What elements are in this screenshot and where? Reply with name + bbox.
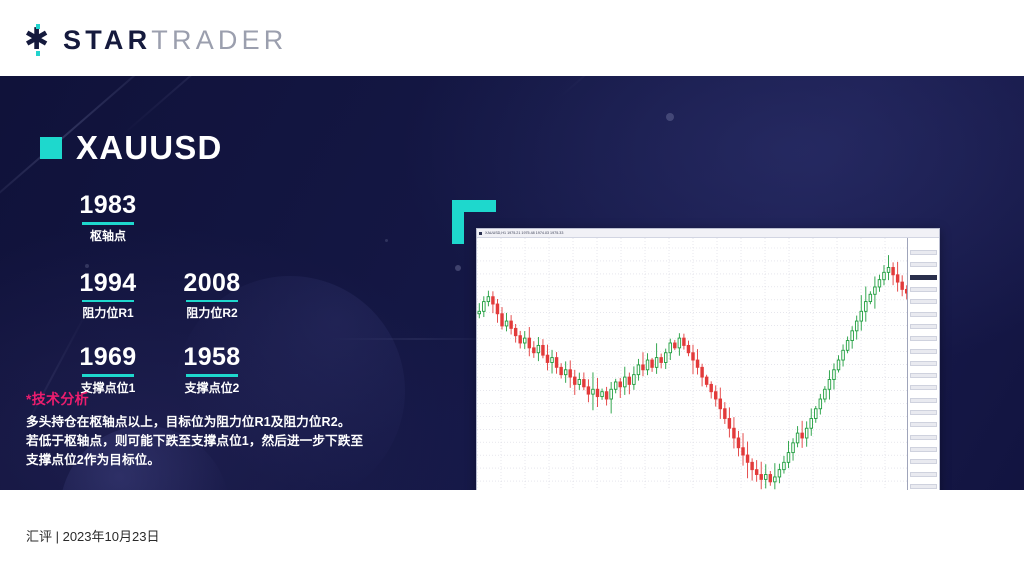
price-tick (910, 447, 937, 452)
level-value: 1983 (56, 191, 160, 219)
page-footer: 汇评 | 2023年10月23日 (0, 490, 1024, 576)
chart-title: XAUUSD,H1 1975.21 1975.48 1974.03 1975.3… (485, 230, 563, 236)
price-tick (910, 459, 937, 464)
levels-row-pivot: 1983 枢轴点 (56, 191, 386, 244)
chart-titlebar: XAUUSD,H1 1975.21 1975.48 1974.03 1975.3… (477, 229, 940, 238)
brand-name-bold: STAR (63, 25, 151, 55)
price-tick (910, 484, 937, 489)
chart-window-icon (479, 232, 482, 235)
decor-dot (455, 265, 461, 271)
analysis-heading: *技术分析 (26, 390, 406, 408)
levels-row-support: 1969 支撑点位1 1958 支撑点位2 (56, 343, 386, 396)
level-underline (82, 222, 134, 225)
level-support-1: 1969 支撑点位1 (56, 343, 160, 396)
level-value: 2008 (160, 269, 264, 297)
symbol-label: XAUUSD (76, 131, 223, 165)
price-tick (910, 324, 937, 329)
price-tick (910, 435, 937, 440)
mt4-chart-window[interactable]: XAUUSD,H1 1975.21 1975.48 1974.03 1975.3… (476, 228, 940, 490)
square-bullet-icon (40, 137, 62, 159)
price-tick (910, 299, 937, 304)
price-tick (910, 287, 937, 292)
level-underline (186, 374, 238, 377)
price-tick (910, 373, 937, 378)
price-tick (910, 398, 937, 403)
decor-dot (666, 113, 674, 121)
pivot-levels: 1983 枢轴点 1994 阻力位R1 2008 阻力位R2 (56, 191, 386, 396)
price-tick (910, 361, 937, 366)
decor-streak (560, 76, 757, 97)
level-label: 阻力位R2 (160, 306, 264, 321)
candlestick-canvas (477, 238, 909, 490)
price-tick (910, 385, 937, 390)
analysis-block: *技术分析 多头持仓在枢轴点以上，目标位为阻力位R1及阻力位R2。 若低于枢轴点… (26, 390, 406, 470)
chart-plot-area[interactable] (477, 238, 909, 490)
analysis-line-3: 支撑点位2作为目标位。 (26, 451, 406, 470)
level-label: 阻力位R1 (56, 306, 160, 321)
page-header: ✱ STARTRADER (0, 0, 1024, 76)
levels-row-resistance: 1994 阻力位R1 2008 阻力位R2 (56, 269, 386, 322)
level-underline (186, 300, 238, 303)
level-support-2: 1958 支撑点位2 (160, 343, 264, 396)
level-value: 1994 (56, 269, 160, 297)
analysis-body: 多头持仓在枢轴点以上，目标位为阻力位R1及阻力位R2。 若低于枢轴点，则可能下跌… (26, 413, 406, 470)
slide-root: ✱ STARTRADER XAUUSD (0, 0, 1024, 576)
price-tick (910, 410, 937, 415)
star-asterisk-icon: ✱ (24, 24, 54, 56)
level-underline (82, 300, 134, 303)
price-tick (910, 349, 937, 354)
brand-logo: ✱ STARTRADER (24, 24, 288, 56)
brand-name-light: TRADER (151, 25, 287, 55)
price-tick (910, 336, 937, 341)
level-underline (82, 374, 134, 377)
price-tick (910, 312, 937, 317)
footer-caption: 汇评 | 2023年10月23日 (26, 526, 159, 545)
price-tick (910, 262, 937, 267)
analysis-line-1: 多头持仓在枢轴点以上，目标位为阻力位R1及阻力位R2。 (26, 413, 406, 432)
level-pivot: 1983 枢轴点 (56, 191, 160, 244)
price-axis (907, 238, 939, 490)
level-resistance-2: 2008 阻力位R2 (160, 269, 264, 322)
analysis-line-2: 若低于枢轴点，则可能下跌至支撑点位1，然后进一步下跌至 (26, 432, 406, 451)
brand-wordmark: STARTRADER (63, 25, 288, 55)
price-tag-current (910, 275, 937, 280)
page-title: XAUUSD (40, 131, 223, 165)
level-label: 枢轴点 (56, 229, 160, 244)
price-tick (910, 472, 937, 477)
price-tick (910, 250, 937, 255)
price-tick (910, 422, 937, 427)
hero-panel: XAUUSD 1983 枢轴点 1994 阻力位R1 2008 (0, 76, 1024, 490)
level-resistance-1: 1994 阻力位R1 (56, 269, 160, 322)
level-value: 1969 (56, 343, 160, 371)
level-value: 1958 (160, 343, 264, 371)
